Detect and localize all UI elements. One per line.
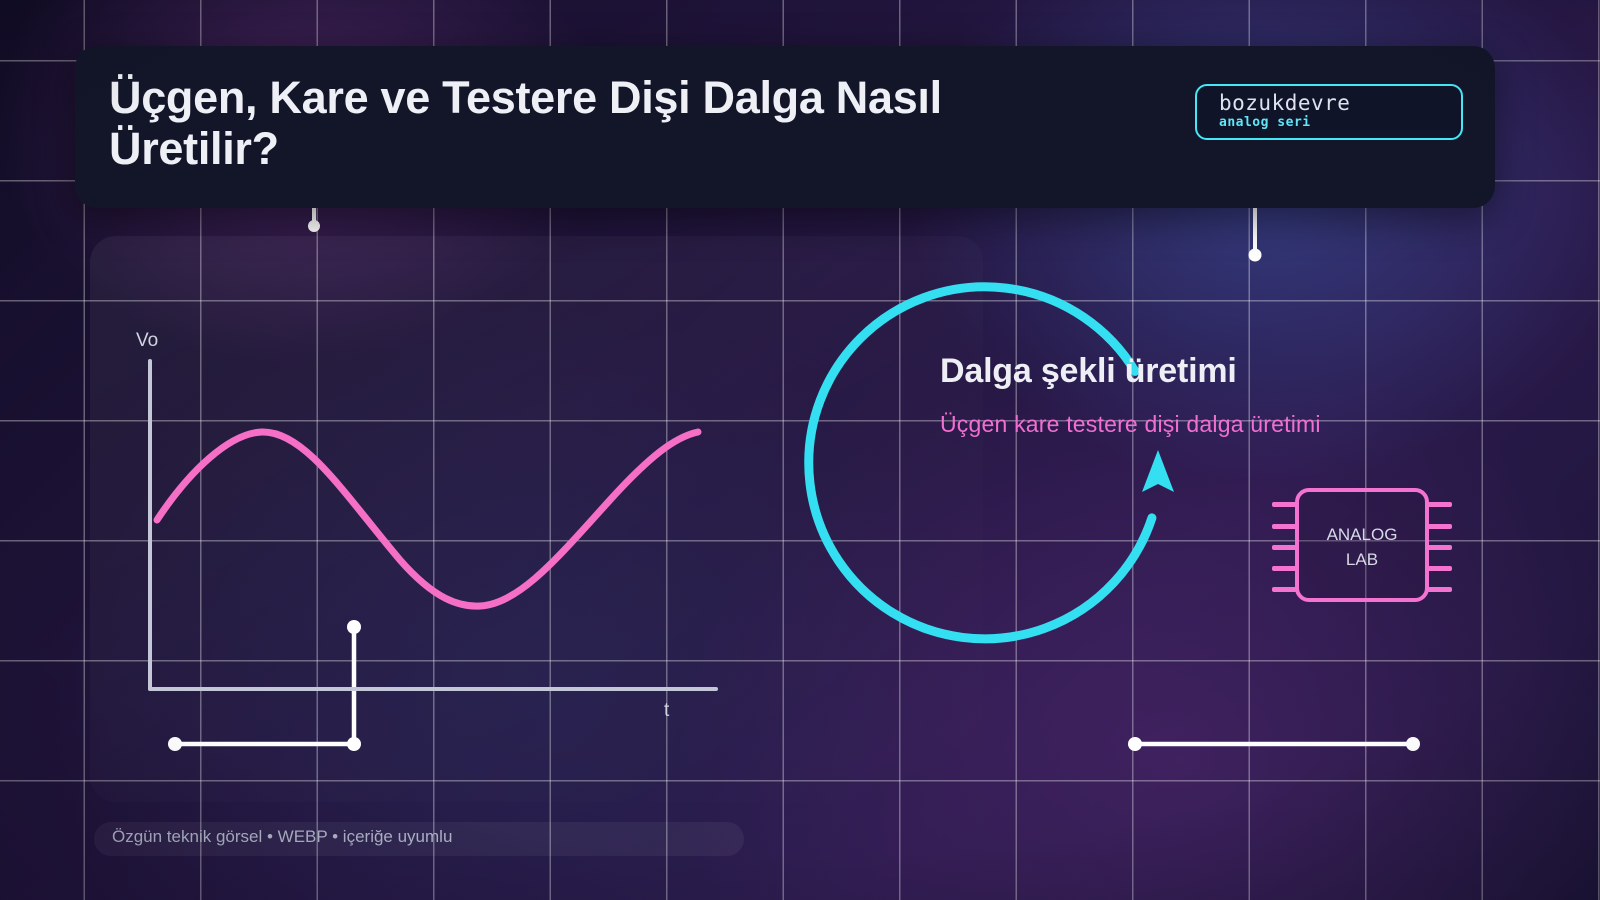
chip-pin-left — [1272, 587, 1297, 592]
oscilloscope-panel — [90, 236, 983, 802]
chip-pin-left — [1272, 545, 1297, 550]
x-axis-line — [148, 687, 718, 691]
brand-subtitle: analog seri — [1219, 115, 1461, 130]
chip-pin-right — [1427, 587, 1452, 592]
callout-title: Dalga şekli üretimi — [940, 352, 1237, 391]
header-tick-left — [308, 206, 320, 232]
chip-pin-left — [1272, 566, 1297, 571]
chip-pin-right — [1427, 502, 1452, 507]
chip-pin-right — [1427, 545, 1452, 550]
brand-badge[interactable]: bozukdevre analog seri — [1195, 84, 1463, 140]
chip-pin-left — [1272, 502, 1297, 507]
header-tick-right — [1249, 208, 1262, 262]
page-title: Üçgen, Kare ve Testere Dişi Dalga Nasıl … — [109, 72, 1069, 175]
callout-subtitle: Üçgen kare testere dişi dalga üretimi — [940, 411, 1321, 438]
analog-lab-chip: ANALOG LAB — [1272, 488, 1452, 604]
x-axis-label: t — [664, 700, 669, 722]
chip-pin-right — [1427, 524, 1452, 529]
y-axis-line — [148, 359, 152, 691]
poster-canvas: Vo t Üçgen, Kare ve Testere Dişi Dalga N… — [0, 0, 1600, 900]
chip-label-line1: ANALOG — [1295, 522, 1429, 547]
chip-pin-right — [1427, 566, 1452, 571]
header-card: Üçgen, Kare ve Testere Dişi Dalga Nasıl … — [75, 46, 1495, 208]
chip-label: ANALOG LAB — [1295, 522, 1429, 572]
brand-name: bozukdevre — [1219, 91, 1461, 115]
y-axis-label: Vo — [136, 330, 158, 352]
chip-label-line2: LAB — [1295, 547, 1429, 572]
footer-caption: Özgün teknik görsel • WEBP • içeriğe uyu… — [112, 827, 452, 847]
chip-pin-left — [1272, 524, 1297, 529]
connector-right — [1128, 737, 1420, 751]
